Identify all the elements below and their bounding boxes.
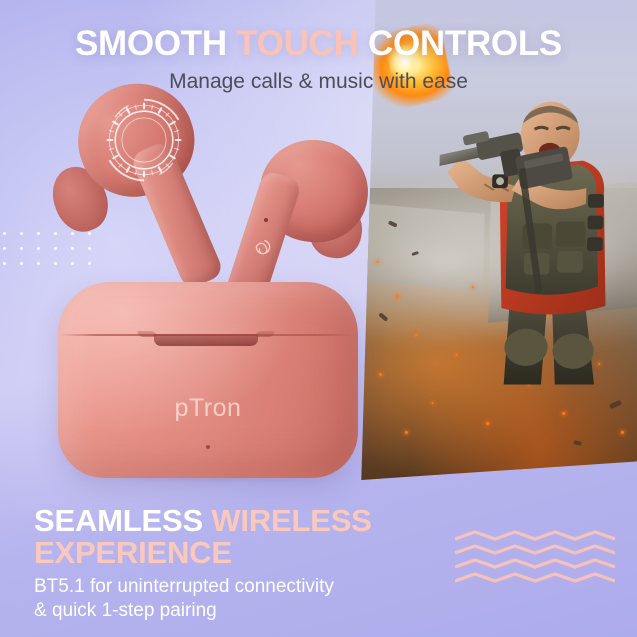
case-led-indicator (206, 445, 210, 449)
case-brand-logo: pTron (58, 394, 358, 423)
bottom-body-line2: & quick 1-step pairing (34, 599, 454, 623)
top-subheadline: Manage calls & music with ease (0, 70, 637, 94)
top-headline-part2: TOUCH (236, 24, 358, 63)
bottom-body-text: BT5.1 for uninterrupted connectivity & q… (34, 575, 454, 623)
bottom-headline-part1: SEAMLESS (34, 503, 211, 538)
left-earbud (50, 74, 230, 274)
top-headline: SMOOTH TOUCH CONTROLS (0, 26, 637, 61)
charging-case: pTron (58, 282, 358, 478)
poster-canvas: pTron SMOOTH TOUCH CONTROLS Manage calls… (0, 0, 637, 637)
top-headline-part1: SMOOTH (75, 24, 236, 63)
zigzag-wave-decoration (455, 529, 615, 595)
case-lid-notch (154, 334, 258, 346)
left-earbud-stem (129, 140, 225, 291)
bottom-text-block: SEAMLESS WIRELESS EXPERIENCE BT5.1 for u… (34, 505, 454, 623)
top-headline-part3: CONTROLS (359, 24, 562, 63)
right-earbud-mic-hole (264, 218, 268, 222)
bottom-body-line1: BT5.1 for uninterrupted connectivity (34, 575, 454, 599)
bottom-headline: SEAMLESS WIRELESS EXPERIENCE (34, 505, 454, 568)
